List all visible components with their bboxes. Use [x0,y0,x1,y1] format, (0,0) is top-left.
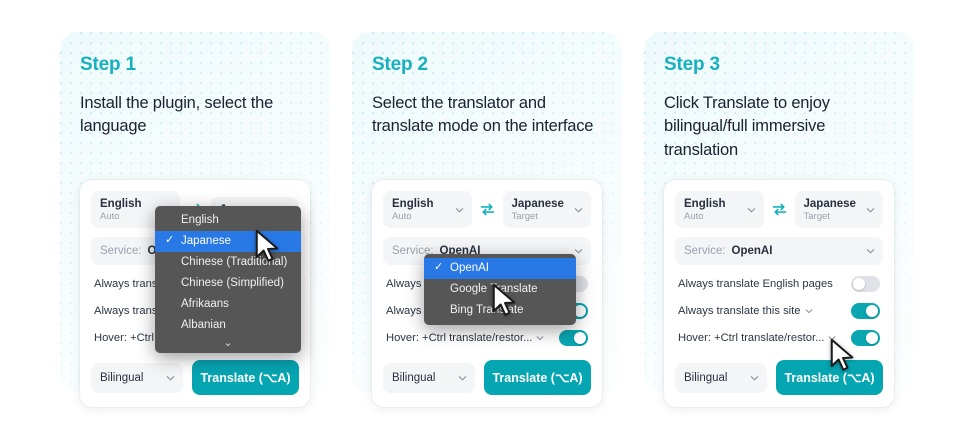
target-language-sub-2: Target [512,211,583,222]
target-language-select-3[interactable]: Japanese Target [795,191,884,228]
dropdown-scroll-more-icon[interactable]: ⌄ [155,336,301,349]
dropdown-option-label: Chinese (Traditional) [181,256,287,268]
dropdown-option-label: Bing Translate [450,304,524,316]
setting-label-text: Always translate this site [678,305,801,317]
toggle-always-translate-english-pages-3[interactable] [851,276,880,292]
setting-label: Always translate English pages [678,278,833,290]
source-language-sub-2: Auto [392,211,463,222]
translate-mode-value-2: Bilingual [392,372,435,384]
step-2-title: Step 2 [372,54,602,76]
setting-label: Always translate this site [678,305,813,317]
setting-row: Hover: +Ctrl translate/restor... [383,330,591,346]
chevron-down-icon [574,247,583,256]
swap-horizontal-icon[interactable] [479,201,496,218]
step-card-3: Step 3 Click Translate to enjoy bilingua… [644,32,914,392]
target-language-name-3: Japanese [804,198,875,210]
dropdown-option-albanian[interactable]: Albanian [155,315,301,336]
translate-mode-select-3[interactable]: Bilingual [675,363,767,393]
target-language-sub-3: Target [804,211,875,222]
translate-mode-value-3: Bilingual [684,372,727,384]
service-select-3[interactable]: Service: OpenAI [675,237,883,265]
target-language-name-2: Japanese [512,198,583,210]
dropdown-option-label: OpenAI [450,262,489,274]
swap-horizontal-icon[interactable] [771,201,788,218]
toggle-always-translate-this-site-3[interactable] [851,303,880,319]
setting-row: Hover: +Ctrl translate/restor... [675,330,883,346]
chevron-down-icon [805,307,813,315]
setting-label: Hover: +Ctrl translate/restor... [678,332,836,344]
dropdown-option-label: Japanese [181,235,231,247]
toggle-knob [853,278,865,290]
step-card-1: Step 1 Install the plugin, select the la… [60,32,330,392]
setting-label-text: Hover: +Ctrl translate/restor... [386,332,532,344]
setting-label: Hover: +Ctrl translate/restor... [386,332,544,344]
plugin-panel-3: English Auto Japanese Target [664,180,894,407]
chevron-down-icon [166,373,175,382]
language-dropdown-menu-1[interactable]: English ✓Japanese Chinese (Traditional) … [155,206,301,353]
chevron-down-icon [747,205,756,214]
step-card-2: Step 2 Select the translator and transla… [352,32,622,392]
step-3-description: Click Translate to enjoy bilingual/full … [664,92,894,172]
toggle-knob [574,332,586,344]
dropdown-option-openai[interactable]: ✓OpenAI [424,258,576,279]
translate-mode-value-1: Bilingual [100,372,143,384]
dropdown-option-label: Google Translate [450,283,538,295]
steps-container: Step 1 Install the plugin, select the la… [0,0,974,392]
setting-row: Always translate English pages [675,276,883,292]
chevron-down-icon [750,373,759,382]
checkmark-icon: ✓ [165,232,174,249]
step-1-title: Step 1 [80,54,310,76]
translate-button-2[interactable]: Translate (⌥A) [484,360,591,395]
dropdown-option-label: Albanian [181,319,226,331]
dropdown-option-chinese-simplified[interactable]: Chinese (Simplified) [155,273,301,294]
dropdown-option-label: Chinese (Simplified) [181,277,284,289]
service-label-1: Service: [100,245,142,257]
dropdown-option-bing-translate[interactable]: Bing Translate [424,300,576,321]
chevron-down-icon [866,205,875,214]
dropdown-option-label: Afrikaans [181,298,229,310]
translate-button-3[interactable]: Translate (⌥A) [776,360,883,395]
step-3-title: Step 3 [664,54,894,76]
chevron-down-icon [455,205,464,214]
source-language-select-2[interactable]: English Auto [383,191,472,228]
chevron-down-icon [458,373,467,382]
step-2-description: Select the translator and translate mode… [372,92,602,172]
dropdown-option-afrikaans[interactable]: Afrikaans [155,294,301,315]
toggle-knob [866,305,878,317]
dropdown-option-label: English [181,214,219,226]
setting-label-text: Hover: +Ctrl translate/restor... [678,332,824,344]
toggle-hover-ctrl-translate-2[interactable] [559,330,588,346]
language-row-3: English Auto Japanese Target [675,191,883,228]
toggle-hover-ctrl-translate-3[interactable] [851,330,880,346]
chevron-down-icon [536,334,544,342]
source-language-name-2: English [392,198,463,210]
panel-footer-2: Bilingual Translate (⌥A) [383,360,591,395]
source-language-name-3: English [684,198,755,210]
language-row-2: English Auto Japanese Target [383,191,591,228]
dropdown-option-chinese-traditional[interactable]: Chinese (Traditional) [155,252,301,273]
chevron-down-icon [574,205,583,214]
setting-row: Always translate this site [675,303,883,319]
chevron-down-icon [866,247,875,256]
dropdown-option-japanese[interactable]: ✓Japanese [155,231,301,252]
checkmark-icon: ✓ [434,259,443,276]
panel-footer-1: Bilingual Translate (⌥A) [91,360,299,395]
translate-mode-select-2[interactable]: Bilingual [383,363,475,393]
source-language-sub-3: Auto [684,211,755,222]
translate-mode-select-1[interactable]: Bilingual [91,363,183,393]
panel-footer-3: Bilingual Translate (⌥A) [675,360,883,395]
step-1-description: Install the plugin, select the language [80,92,310,172]
dropdown-option-google-translate[interactable]: Google Translate [424,279,576,300]
service-value-3: OpenAI [732,245,773,257]
translate-button-1[interactable]: Translate (⌥A) [192,360,299,395]
dropdown-option-english[interactable]: English [155,210,301,231]
chevron-down-icon [828,334,836,342]
toggle-knob [866,332,878,344]
target-language-select-2[interactable]: Japanese Target [503,191,592,228]
source-language-select-3[interactable]: English Auto [675,191,764,228]
service-dropdown-menu-2[interactable]: ✓OpenAI Google Translate Bing Translate [424,254,576,325]
service-label-3: Service: [684,245,726,257]
